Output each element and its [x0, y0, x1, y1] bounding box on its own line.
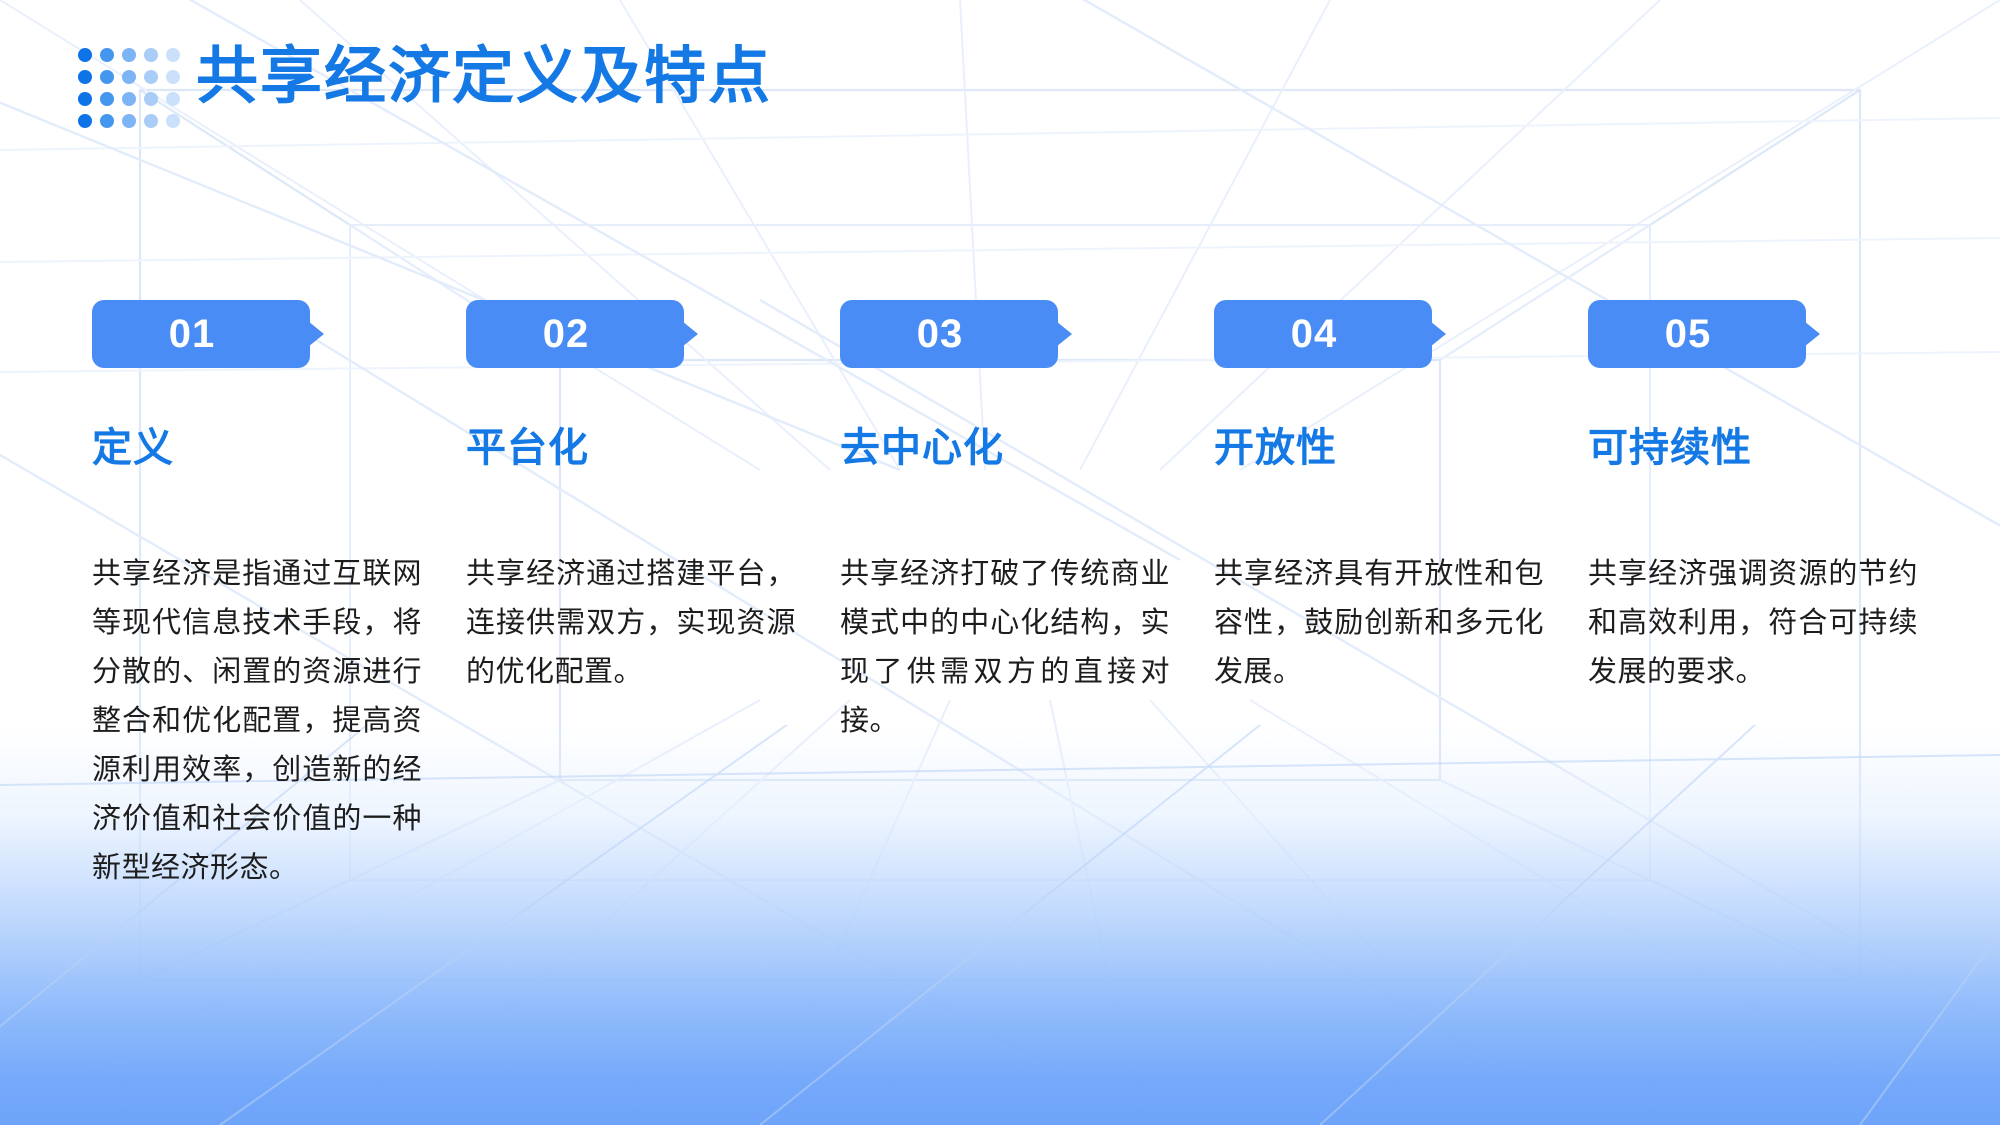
dot-r0c0 — [78, 48, 92, 62]
dot-r3c1 — [100, 114, 114, 128]
dot-r3c0 — [78, 114, 92, 128]
feature-heading-5: 可持续性 — [1588, 424, 1962, 472]
dot-r0c2 — [122, 48, 136, 62]
dot-r1c1 — [100, 70, 114, 84]
dot-r1c4 — [166, 70, 180, 84]
dot-r0c3 — [144, 48, 158, 62]
feature-heading-1: 定义 — [92, 424, 466, 472]
dot-r2c1 — [100, 92, 114, 106]
slide-canvas: 共享经济定义及特点 01 定义 共享经济是指通过互联网等现代信息技术手段，将分散… — [0, 0, 2000, 1125]
dot-r2c0 — [78, 92, 92, 106]
feature-body-3: 共享经济打破了传统商业模式中的中心化结构，实现了供需双方的直接对接。 — [840, 550, 1170, 746]
step-number-2: 02 — [543, 314, 590, 354]
step-badge-4[interactable]: 04 — [1214, 300, 1432, 368]
dot-r3c3 — [144, 114, 158, 128]
dot-r2c4 — [166, 92, 180, 106]
step-badge-3[interactable]: 03 — [840, 300, 1058, 368]
step-number-4: 04 — [1291, 314, 1338, 354]
step-badge-1[interactable]: 01 — [92, 300, 310, 368]
slide-header: 共享经济定义及特点 — [0, 0, 2000, 170]
feature-body-5: 共享经济强调资源的节约和高效利用，符合可持续发展的要求。 — [1588, 550, 1918, 697]
feature-column-5: 05 可持续性 共享经济强调资源的节约和高效利用，符合可持续发展的要求。 — [1588, 300, 1962, 893]
dot-r0c4 — [166, 48, 180, 62]
feature-column-4: 04 开放性 共享经济具有开放性和包容性，鼓励创新和多元化发展。 — [1214, 300, 1588, 893]
feature-column-3: 03 去中心化 共享经济打破了传统商业模式中的中心化结构，实现了供需双方的直接对… — [840, 300, 1214, 893]
feature-column-1: 01 定义 共享经济是指通过互联网等现代信息技术手段，将分散的、闲置的资源进行整… — [92, 300, 466, 893]
feature-body-2: 共享经济通过搭建平台，连接供需双方，实现资源的优化配置。 — [466, 550, 796, 697]
dot-grid-decoration — [78, 48, 183, 131]
step-badge-2[interactable]: 02 — [466, 300, 684, 368]
feature-columns: 01 定义 共享经济是指通过互联网等现代信息技术手段，将分散的、闲置的资源进行整… — [0, 300, 2000, 893]
dot-r1c3 — [144, 70, 158, 84]
dot-r1c2 — [122, 70, 136, 84]
feature-heading-3: 去中心化 — [840, 424, 1214, 472]
dot-r0c1 — [100, 48, 114, 62]
feature-body-4: 共享经济具有开放性和包容性，鼓励创新和多元化发展。 — [1214, 550, 1544, 697]
feature-column-2: 02 平台化 共享经济通过搭建平台，连接供需双方，实现资源的优化配置。 — [466, 300, 840, 893]
page-title: 共享经济定义及特点 — [196, 40, 772, 114]
step-number-1: 01 — [169, 314, 216, 354]
dot-r1c0 — [78, 70, 92, 84]
step-number-5: 05 — [1665, 314, 1712, 354]
dot-r2c2 — [122, 92, 136, 106]
feature-heading-2: 平台化 — [466, 424, 840, 472]
feature-body-1: 共享经济是指通过互联网等现代信息技术手段，将分散的、闲置的资源进行整合和优化配置… — [92, 550, 422, 893]
dot-r2c3 — [144, 92, 158, 106]
dot-r3c4 — [166, 114, 180, 128]
dot-r3c2 — [122, 114, 136, 128]
step-number-3: 03 — [917, 314, 964, 354]
feature-heading-4: 开放性 — [1214, 424, 1588, 472]
step-badge-5[interactable]: 05 — [1588, 300, 1806, 368]
